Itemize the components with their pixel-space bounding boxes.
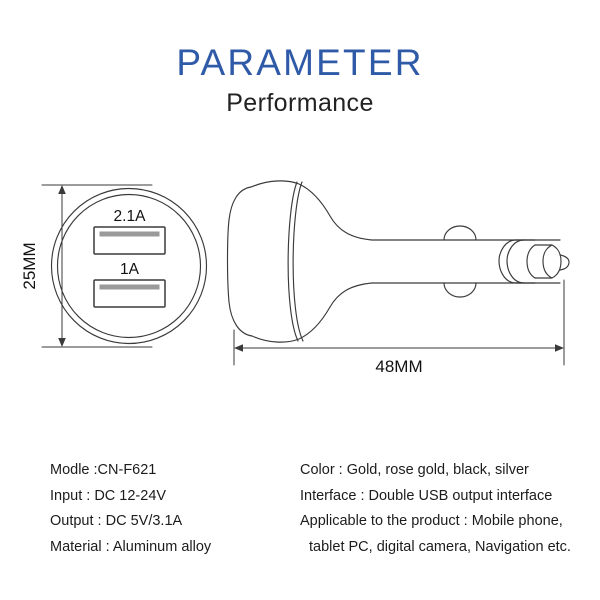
spec-color: Color : Gold, rose gold, black, silver — [300, 458, 595, 484]
page-title: PARAMETER — [0, 44, 600, 83]
tip-barrel-back — [527, 245, 535, 278]
usb-port-1a-label: 1A — [120, 261, 140, 278]
spec-material: Material : Aluminum alloy — [50, 535, 300, 561]
spring-clip-top — [444, 226, 476, 240]
tip-end-cap — [543, 245, 561, 278]
body-top-contour — [251, 181, 560, 240]
dimension-25mm-label: 25MM — [20, 242, 39, 289]
arrow-left — [234, 344, 243, 351]
spec-column-right: Color : Gold, rose gold, black, silver I… — [300, 458, 595, 560]
side-profile — [228, 181, 570, 342]
spec-column-left: Modle :CN-F621 Input : DC 12-24V Output … — [50, 458, 300, 560]
specification-block: Modle :CN-F621 Input : DC 12-24V Output … — [0, 458, 600, 588]
product-parameter-sheet: PARAMETER Performance — [0, 0, 600, 600]
usb-port-1a — [94, 280, 165, 307]
head-left-cap — [228, 187, 253, 336]
usb-port-2-1a-label: 2.1A — [114, 208, 147, 225]
spec-applicable-2: tablet PC, digital camera, Navigation et… — [300, 535, 595, 561]
port-contact-bar — [100, 285, 160, 290]
body-bottom-contour — [252, 283, 560, 342]
spec-input: Input : DC 12-24V — [50, 484, 300, 510]
spec-output: Output : DC 5V/3.1A — [50, 509, 300, 535]
arrow-right — [555, 344, 564, 351]
spring-clip-bottom — [444, 283, 476, 297]
dimension-48mm — [234, 280, 564, 365]
spec-interface: Interface : Double USB output interface — [300, 484, 595, 510]
arrow-down — [58, 338, 66, 347]
collar-ring-inner — [507, 240, 524, 283]
header: PARAMETER Performance — [0, 0, 600, 117]
port-body — [94, 280, 165, 307]
spec-applicable-1: Applicable to the product : Mobile phone… — [300, 509, 595, 535]
dimension-48mm-label: 48MM — [375, 357, 422, 376]
technical-drawing: 2.1A 1A 25MM 48MM — [0, 160, 600, 410]
port-body — [94, 227, 165, 254]
arrow-up — [58, 185, 66, 194]
head-ring-line-2 — [293, 182, 303, 341]
usb-port-2-1a — [94, 227, 165, 254]
port-contact-bar — [100, 232, 160, 237]
page-subtitle: Performance — [0, 90, 600, 118]
spec-model: Modle :CN-F621 — [50, 458, 300, 484]
